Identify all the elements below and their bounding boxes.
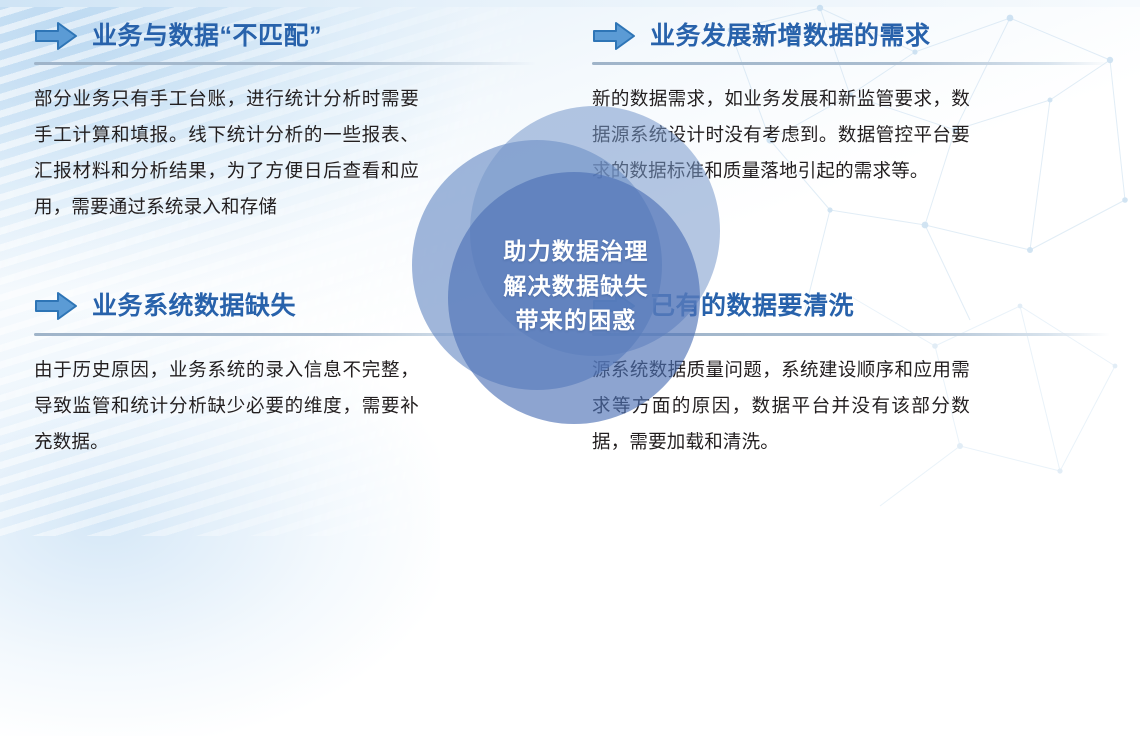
quadrant-body: 部分业务只有手工台账，进行统计分析时需要手工计算和填报。线下统计分析的一些报表、… [34, 81, 419, 225]
arrow-right-icon [34, 21, 78, 51]
quadrant-heading-row: 业务系统数据缺失 [34, 284, 536, 328]
quadrant-new-data-demand: 业务发展新增数据的需求 新的数据需求，如业务发展和新监管要求，数据源系统设计时没… [570, 0, 1140, 268]
quadrant-existing-data-cleansing: 已有的数据要清洗 源系统数据质量问题，系统建设顺序和应用需求等方面的原因，数据平… [570, 268, 1140, 536]
quadrant-body: 由于历史原因，业务系统的录入信息不完整，导致监管和统计分析缺少必要的维度，需要补… [34, 352, 419, 460]
quadrant-heading-row: 已有的数据要清洗 [592, 284, 1110, 328]
heading-divider [592, 62, 1110, 65]
arrow-right-icon [34, 291, 78, 321]
heading-divider [34, 62, 536, 65]
quadrant-heading-row: 业务发展新增数据的需求 [592, 14, 1110, 58]
arrow-right-icon [592, 21, 636, 51]
quadrant-title: 业务与数据“不匹配” [92, 24, 322, 49]
quadrant-title: 业务发展新增数据的需求 [650, 24, 931, 49]
quadrant-system-data-missing: 业务系统数据缺失 由于历史原因，业务系统的录入信息不完整，导致监管和统计分析缺少… [0, 268, 570, 536]
quadrant-body: 源系统数据质量问题，系统建设顺序和应用需求等方面的原因，数据平台并没有该部分数据… [592, 352, 970, 460]
quadrant-title: 已有的数据要清洗 [650, 294, 854, 319]
quadrant-body: 新的数据需求，如业务发展和新监管要求，数据源系统设计时没有考虑到。数据管控平台要… [592, 81, 970, 189]
quadrant-grid: 业务与数据“不匹配” 部分业务只有手工台账，进行统计分析时需要手工计算和填报。线… [0, 0, 1140, 536]
quadrant-heading-row: 业务与数据“不匹配” [34, 14, 536, 58]
quadrant-business-data-mismatch: 业务与数据“不匹配” 部分业务只有手工台账，进行统计分析时需要手工计算和填报。线… [0, 0, 570, 268]
quadrant-title: 业务系统数据缺失 [92, 294, 296, 319]
heading-divider [592, 333, 1110, 336]
heading-divider [34, 333, 536, 336]
arrow-right-icon [592, 291, 636, 321]
